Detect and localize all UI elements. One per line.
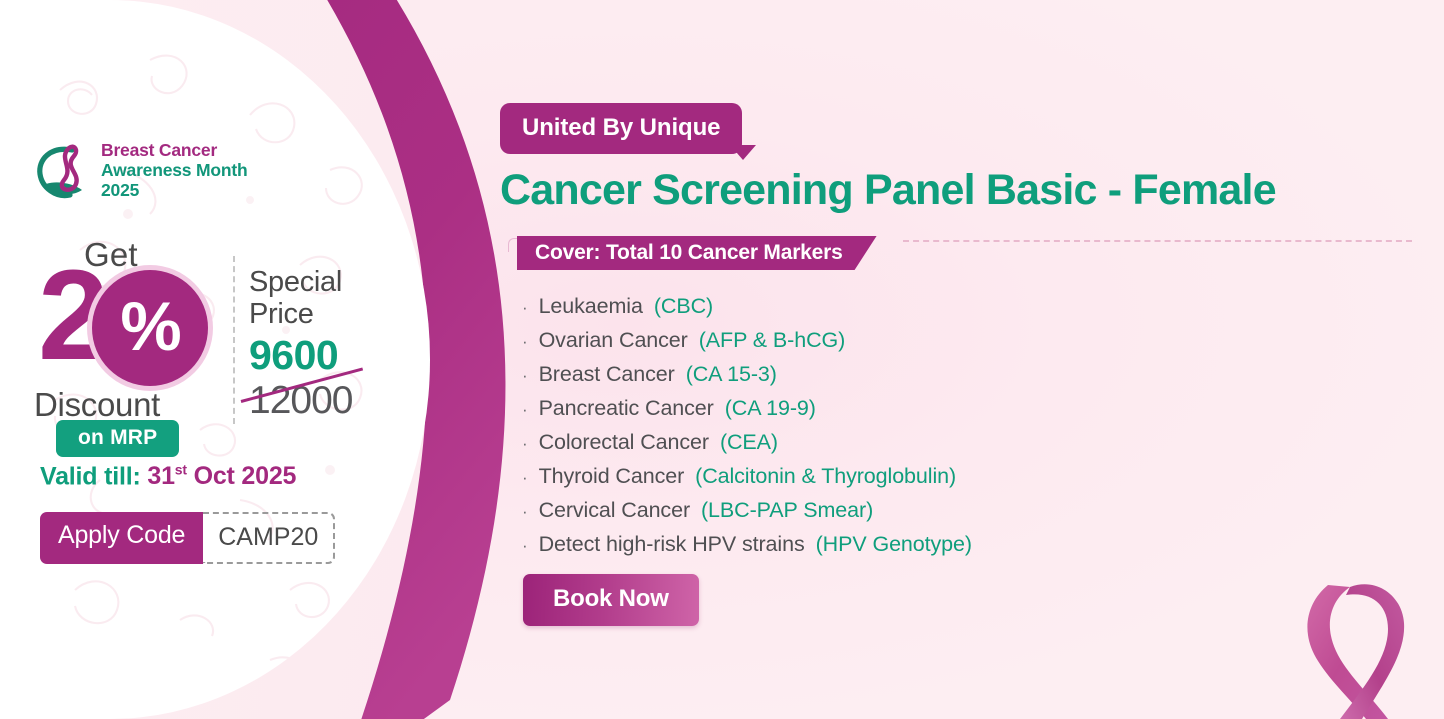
marker-name: Leukaemia bbox=[539, 290, 643, 323]
list-item: · Thyroid Cancer (Calcitonin & Thyroglob… bbox=[522, 460, 972, 494]
list-item: · Pancreatic Cancer (CA 19-9) bbox=[522, 392, 972, 426]
marker-code: (Calcitonin & Thyroglobulin) bbox=[695, 460, 956, 493]
special-price-label-1: Special bbox=[249, 266, 409, 298]
mrp-price: 12000 bbox=[249, 381, 352, 420]
marker-code: (CA 19-9) bbox=[725, 392, 816, 425]
valid-till-label: Valid till: bbox=[40, 462, 141, 490]
list-item: · Cervical Cancer (LBC-PAP Smear) bbox=[522, 494, 972, 528]
marker-code: (CA 15-3) bbox=[686, 358, 777, 391]
list-item: · Detect high-risk HPV strains (HPV Geno… bbox=[522, 528, 972, 562]
marker-name: Colorectal Cancer bbox=[539, 426, 709, 459]
marker-name: Cervical Cancer bbox=[539, 494, 690, 527]
valid-month-year: Oct 2025 bbox=[187, 462, 296, 490]
logo-line-3: 2025 bbox=[101, 181, 247, 201]
bullet-icon: · bbox=[522, 325, 528, 358]
tagline-badge: United By Unique bbox=[500, 103, 742, 154]
bullet-icon: · bbox=[522, 461, 528, 494]
list-item: · Ovarian Cancer (AFP & B-hCG) bbox=[522, 324, 972, 358]
validity-text: Valid till: 31st Oct 2025 bbox=[40, 462, 296, 491]
brand-logo: Breast Cancer Awareness Month 2025 bbox=[36, 140, 247, 202]
book-now-button[interactable]: Book Now bbox=[523, 574, 699, 626]
marker-code: (LBC-PAP Smear) bbox=[701, 494, 873, 527]
marker-name: Detect high-risk HPV strains bbox=[539, 528, 805, 561]
cover-dashed-line bbox=[903, 240, 1412, 242]
marker-name: Thyroid Cancer bbox=[539, 460, 685, 493]
marker-code: (CBC) bbox=[654, 290, 713, 323]
special-price-value: 9600 bbox=[249, 335, 409, 376]
on-mrp-badge: on MRP bbox=[56, 420, 179, 457]
coupon-code-value[interactable]: CAMP20 bbox=[203, 512, 335, 564]
marker-code: (HPV Genotype) bbox=[816, 528, 972, 561]
bullet-icon: · bbox=[522, 427, 528, 460]
bullet-icon: · bbox=[522, 393, 528, 426]
cover-banner-row: Cover: Total 10 Cancer Markers bbox=[500, 236, 1430, 280]
cover-banner: Cover: Total 10 Cancer Markers bbox=[517, 236, 877, 270]
discount-percent: 2 % bbox=[30, 268, 230, 378]
percent-circle: % bbox=[92, 270, 208, 386]
bullet-icon: · bbox=[522, 291, 528, 324]
cancer-marker-list: · Leukaemia (CBC) · Ovarian Cancer (AFP … bbox=[522, 290, 972, 562]
marker-name: Ovarian Cancer bbox=[539, 324, 688, 357]
marker-name: Breast Cancer bbox=[539, 358, 675, 391]
logo-line-1: Breast Cancer bbox=[101, 141, 247, 161]
breast-cancer-ribbon-icon bbox=[36, 140, 92, 202]
discount-label: Discount bbox=[34, 386, 160, 424]
marker-name: Pancreatic Cancer bbox=[539, 392, 714, 425]
page-title: Cancer Screening Panel Basic - Female bbox=[500, 166, 1276, 215]
special-price-label-2: Price bbox=[249, 298, 409, 330]
vertical-dashed-divider bbox=[233, 256, 235, 424]
percent-sign: % bbox=[120, 292, 179, 361]
list-item: · Breast Cancer (CA 15-3) bbox=[522, 358, 972, 392]
price-block: Special Price 9600 12000 bbox=[249, 266, 409, 420]
apply-code-button[interactable]: Apply Code bbox=[40, 512, 203, 564]
coupon-code-row[interactable]: Apply Code CAMP20 bbox=[40, 512, 335, 564]
bullet-icon: · bbox=[522, 529, 528, 562]
valid-day-suffix: st bbox=[175, 462, 187, 478]
banner-canvas: Breast Cancer Awareness Month 2025 Get 2… bbox=[0, 0, 1444, 719]
bullet-icon: · bbox=[522, 359, 528, 392]
tagline-badge-tail bbox=[730, 145, 756, 160]
valid-day: 31 bbox=[147, 462, 174, 490]
logo-line-2: Awareness Month bbox=[101, 161, 247, 181]
list-item: · Leukaemia (CBC) bbox=[522, 290, 972, 324]
bullet-icon: · bbox=[522, 495, 528, 528]
list-item: · Colorectal Cancer (CEA) bbox=[522, 426, 972, 460]
marker-code: (CEA) bbox=[720, 426, 778, 459]
marker-code: (AFP & B-hCG) bbox=[699, 324, 845, 357]
